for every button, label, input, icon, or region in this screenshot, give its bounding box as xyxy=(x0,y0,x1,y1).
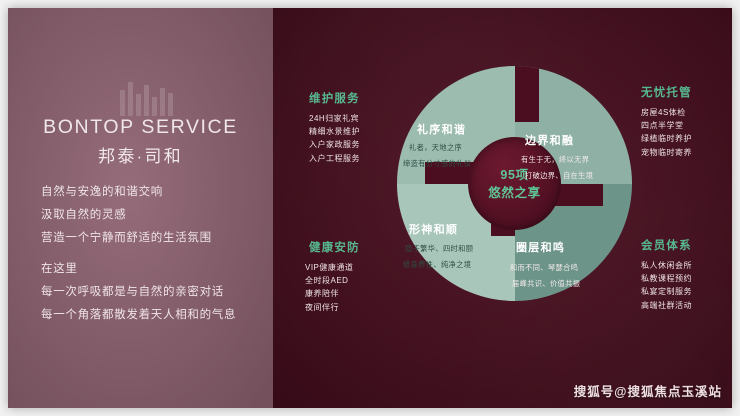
list-item: 私宴定制服务 xyxy=(641,285,692,298)
column-list-maintenance: 24H归家礼宾 精细水景维护 入户家政服务 入户工程服务 xyxy=(309,112,360,165)
quadrant-title-circle-resonance: 圈层和鸣 xyxy=(516,239,565,255)
quadrant-title-boundary-fusion: 边界和融 xyxy=(525,132,574,148)
brand-paragraph-5: 每一次呼吸都是与自然的亲密对话 xyxy=(41,287,224,299)
brand-paragraph-6: 每一个角落都散发着天人相和的气息 xyxy=(41,310,236,322)
watermark-label: 搜狐号@搜狐焦点玉溪站 xyxy=(574,381,722,400)
list-item: 私人休闲会所 xyxy=(641,259,692,272)
brand-paragraph-3: 营造一个宁静而舒适的生活氛围 xyxy=(41,233,212,245)
quadrant-line2-boundary-fusion: 打破边界、自在生境 xyxy=(525,170,593,182)
list-item: 房屋4S体检 xyxy=(641,106,692,119)
wheel-hub-label: 悠然之享 xyxy=(468,182,561,201)
quadrant-title-ritual-harmony: 礼序和谐 xyxy=(417,121,466,137)
list-item: 康养陪伴 xyxy=(305,287,353,300)
list-item: 夜间伴行 xyxy=(305,301,353,314)
quadrant-title-form-spirit: 形神和顺 xyxy=(409,221,458,237)
list-item: 24H归家礼宾 xyxy=(309,112,360,125)
quadrant-line2-form-spirit: 修身养性、纯净之境 xyxy=(403,259,471,271)
wheel-notch xyxy=(515,66,539,122)
left-panel-vignette xyxy=(8,8,273,408)
column-list-health-security: VIP健康通道 全时段AED 康养陪伴 夜间伴行 xyxy=(305,261,353,314)
quadrant-line2-circle-resonance: 届峰共识、价值共振 xyxy=(512,278,580,290)
list-item: 绿植临时养护 xyxy=(641,132,692,145)
wheel-hub: 95项 悠然之享 xyxy=(468,137,561,230)
brand-name-cn: 邦泰·司和 xyxy=(8,142,273,167)
brand-logo-mark xyxy=(120,80,174,116)
quadrant-line1-circle-resonance: 和而不同、琴瑟合鸣 xyxy=(510,262,578,274)
list-item: 四点半学堂 xyxy=(641,119,692,132)
quadrant-line1-form-spirit: 隐于繁华、四时和颐 xyxy=(405,243,473,255)
list-item: 入户工程服务 xyxy=(309,152,360,165)
service-wheel-diagram: 95项 悠然之享 礼序和谐 礼者，天地之序 缔造有分寸感的礼仪 边界和融 有生于… xyxy=(397,66,632,301)
brand-paragraph-4: 在这里 xyxy=(41,264,78,276)
right-content-panel: 维护服务 24H归家礼宾 精细水景维护 入户家政服务 入户工程服务 健康安防 V… xyxy=(273,8,732,408)
slide-canvas: BONTOP SERVICE 邦泰·司和 自然与安逸的和谐交响 汲取自然的灵感 … xyxy=(0,0,740,416)
column-title-worry-free-hosting: 无忧托管 xyxy=(641,84,692,100)
column-title-maintenance: 维护服务 xyxy=(309,90,360,106)
list-item: 高端社群活动 xyxy=(641,299,692,312)
list-item: 入户家政服务 xyxy=(309,138,360,151)
left-brand-panel: BONTOP SERVICE 邦泰·司和 自然与安逸的和谐交响 汲取自然的灵感 … xyxy=(8,8,273,408)
brand-name-en: BONTOP SERVICE xyxy=(8,116,273,139)
quadrant-line1-boundary-fusion: 有生于无，终以无界 xyxy=(521,154,589,166)
list-item: 宠物临时寄养 xyxy=(641,146,692,159)
quadrant-line2-ritual-harmony: 缔造有分寸感的礼仪 xyxy=(403,158,471,170)
brand-paragraph-2: 汲取自然的灵感 xyxy=(41,210,126,222)
slide-page: BONTOP SERVICE 邦泰·司和 自然与安逸的和谐交响 汲取自然的灵感 … xyxy=(8,8,732,408)
column-title-membership: 会员体系 xyxy=(641,237,692,253)
column-list-membership: 私人休闲会所 私教课程预约 私宴定制服务 高端社群活动 xyxy=(641,259,692,312)
list-item: 精细水景维护 xyxy=(309,125,360,138)
list-item: 全时段AED xyxy=(305,274,353,287)
list-item: 私教课程预约 xyxy=(641,272,692,285)
column-title-health-security: 健康安防 xyxy=(309,239,360,255)
column-list-worry-free-hosting: 房屋4S体检 四点半学堂 绿植临时养护 宠物临时寄养 xyxy=(641,106,692,159)
brand-paragraph-1: 自然与安逸的和谐交响 xyxy=(41,187,163,199)
quadrant-line1-ritual-harmony: 礼者，天地之序 xyxy=(409,142,462,154)
list-item: VIP健康通道 xyxy=(305,261,353,274)
